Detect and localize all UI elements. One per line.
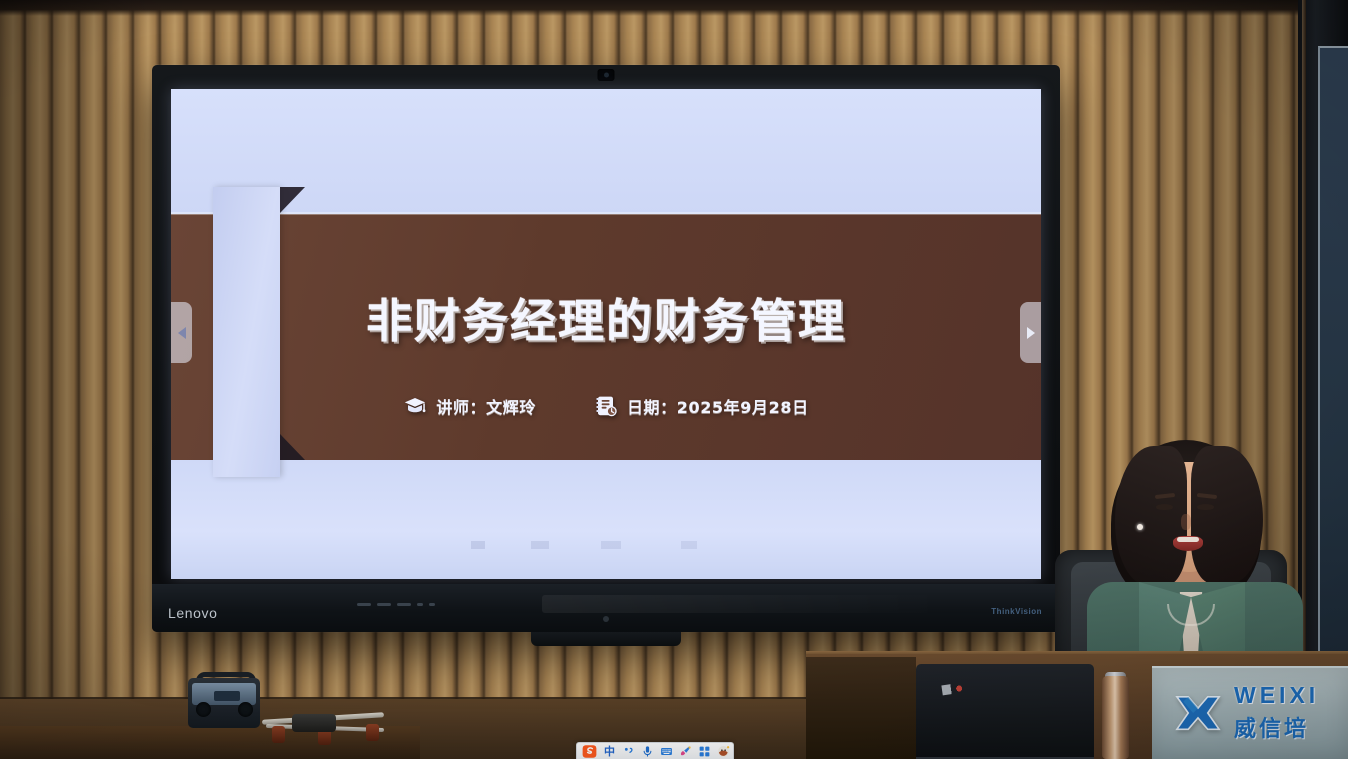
lecture-room-scene: 非财务经理的财务管理 讲师：文辉玲 [0,0,1348,759]
scene-vignette [0,0,1348,759]
